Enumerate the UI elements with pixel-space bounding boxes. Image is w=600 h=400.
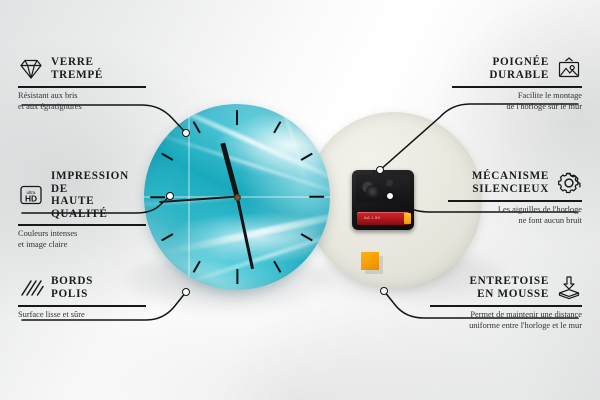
callout-subtitle: Surface lisse et sûre xyxy=(18,310,146,320)
leader-endpoint-poignee-durable xyxy=(376,166,384,174)
leader-endpoint-mecanisme xyxy=(386,192,394,200)
callout-subtitle: Les aiguilles de l'horloge ne font aucun… xyxy=(448,205,582,226)
callout-subtitle: Facilite le montage de l'horloge sur le … xyxy=(452,91,582,112)
callout-divider xyxy=(430,305,582,307)
callout-title: POIGNÉE DURABLE xyxy=(489,56,549,81)
movement-plate xyxy=(356,175,410,202)
hour-tick xyxy=(236,269,238,284)
callout-title: IMPRESSION DE HAUTE QUALITÉ xyxy=(51,170,146,220)
polished-edges-icon xyxy=(18,275,44,301)
aa-battery: AA 1.5V xyxy=(357,212,409,225)
hour-tick xyxy=(150,196,165,198)
callout-title: BORDS POLIS xyxy=(51,275,93,300)
callout-subtitle: Résistant aux bris et aux égratignures xyxy=(18,91,146,112)
diamond-icon xyxy=(18,56,44,82)
callout-title: ENTRETOISE EN MOUSSE xyxy=(469,275,549,300)
callout-divider xyxy=(448,200,582,202)
battery-label: AA 1.5V xyxy=(364,215,381,220)
quartz-movement: AA 1.5V xyxy=(352,170,414,230)
callout-subtitle: Permet de maintenir une distance uniform… xyxy=(430,310,582,331)
movement-shaft xyxy=(366,185,379,198)
callout-title: VERRE TREMPÉ xyxy=(51,56,103,81)
callout-mecanisme-silencieux: MÉCANISME SILENCIEUX Les aiguilles de l'… xyxy=(448,170,582,226)
leader-endpoint-impression xyxy=(166,192,174,200)
battery-positive-terminal xyxy=(404,213,411,224)
leader-endpoint-bords-polis xyxy=(182,288,190,296)
callout-entretoise-en-mousse: ENTRETOISE EN MOUSSE Permet de maintenir… xyxy=(430,275,582,331)
product-infographic: AA 1.5V xyxy=(0,0,600,400)
svg-text:HD: HD xyxy=(25,194,37,204)
picture-hanger-icon xyxy=(556,56,582,82)
foam-spacer-pad xyxy=(361,252,379,270)
callout-divider xyxy=(18,305,146,307)
callout-divider xyxy=(18,86,146,88)
callout-divider xyxy=(18,224,146,226)
ultra-hd-icon: ultra HD xyxy=(18,182,44,208)
callout-poignee-durable: POIGNÉE DURABLE Facilite le montage de l… xyxy=(452,56,582,112)
hand-center-cap xyxy=(234,194,241,201)
callout-impression-haute-qualite: ultra HD IMPRESSION DE HAUTE QUALITÉ Cou… xyxy=(18,170,146,250)
leader-endpoint-verre-trempe xyxy=(182,129,190,137)
callout-divider xyxy=(452,86,582,88)
foam-spacer-icon xyxy=(556,275,582,301)
callout-verre-trempe: VERRE TREMPÉ Résistant aux bris et aux é… xyxy=(18,56,146,112)
leader-endpoint-entretoise xyxy=(380,287,388,295)
callout-subtitle: Couleurs intenses et image claire xyxy=(18,229,146,250)
callout-title: MÉCANISME SILENCIEUX xyxy=(472,170,549,195)
callout-bords-polis: BORDS POLIS Surface lisse et sûre xyxy=(18,275,146,321)
gear-icon xyxy=(556,170,582,196)
